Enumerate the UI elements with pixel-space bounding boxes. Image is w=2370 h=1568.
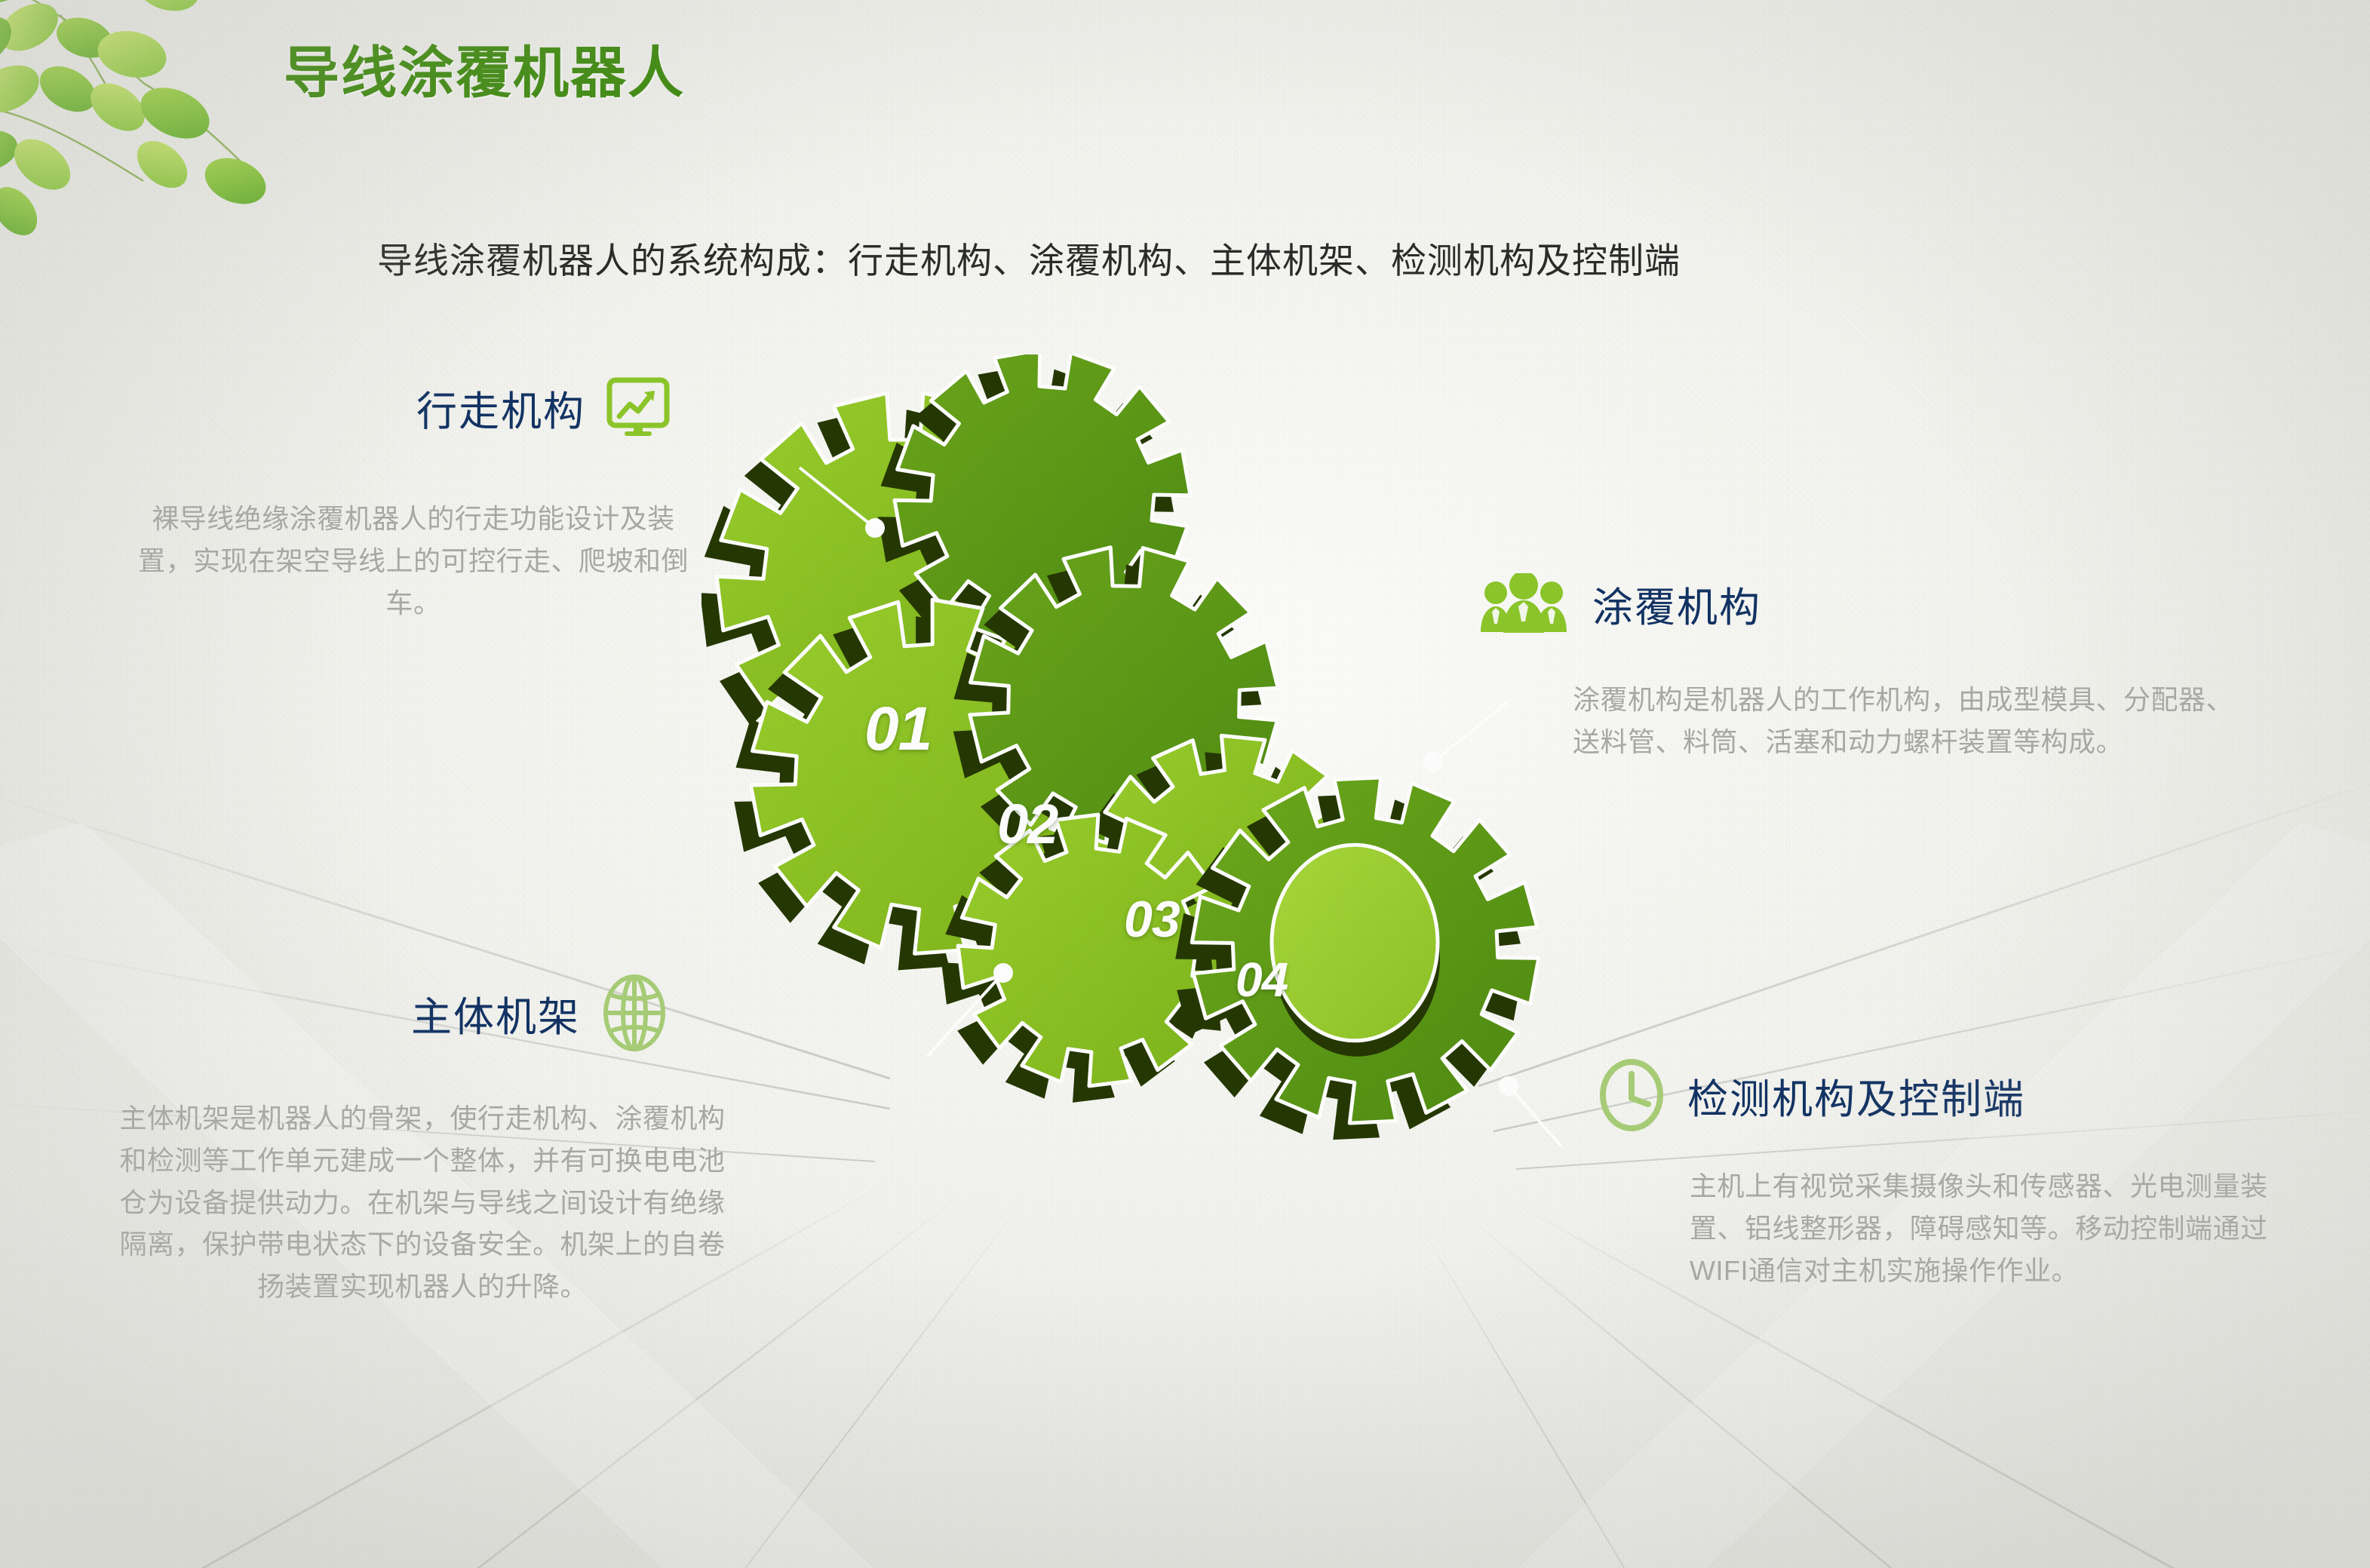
- chart-monitor-icon: [605, 377, 671, 437]
- section-title-detection: 检测机构及控制端: [1687, 1066, 2025, 1125]
- clock-icon: [1595, 1056, 1668, 1134]
- section-body-frame: 主体机架是机器人的骨架，使行走机构、涂覆机构和检测等工作单元建成一个整体，并有可…: [113, 1097, 732, 1308]
- callout-dot-01: [865, 518, 885, 538]
- section-body-detection: 主机上有视觉采集摄像头和传感器、光电测量装置、铝线整形器，障碍感知等。移动控制端…: [1690, 1165, 2293, 1291]
- globe-icon: [600, 973, 669, 1053]
- section-title-frame: 主体机架: [411, 983, 580, 1043]
- page-title: 导线涂覆机器人: [284, 45, 685, 101]
- page-subtitle: 导线涂覆机器人的系统构成：行走机构、涂覆机构、主体机架、检测机构及控制端: [377, 232, 1681, 284]
- people-group-icon: [1475, 573, 1573, 634]
- callout-dot-02: [1423, 752, 1443, 772]
- section-body-coating: 涂覆机构是机器人的工作机构，由成型模具、分配器、送料管、料筒、活塞和动力螺杆装置…: [1573, 679, 2252, 763]
- section-body-walking: 裸导线绝缘涂覆机器人的行走功能设计及装置，实现在架空导线上的可控行走、爬坡和倒车…: [134, 498, 692, 624]
- slide-canvas: 01 02 03 04 导线涂覆机器人 导线涂覆机器人的系统构成：行走机构、涂覆…: [0, 0, 2370, 1568]
- section-title-walking: 行走机构: [416, 378, 585, 437]
- section-header-detection: 检测机构及控制端: [1595, 1056, 2025, 1134]
- section-title-coating: 涂覆机构: [1592, 574, 1761, 634]
- section-header-frame: 主体机架: [411, 973, 669, 1053]
- section-header-walking: 行走机构: [416, 377, 671, 437]
- callout-dot-04: [1499, 1076, 1518, 1096]
- section-header-coating: 涂覆机构: [1475, 573, 1761, 634]
- callout-dot-03: [993, 963, 1013, 983]
